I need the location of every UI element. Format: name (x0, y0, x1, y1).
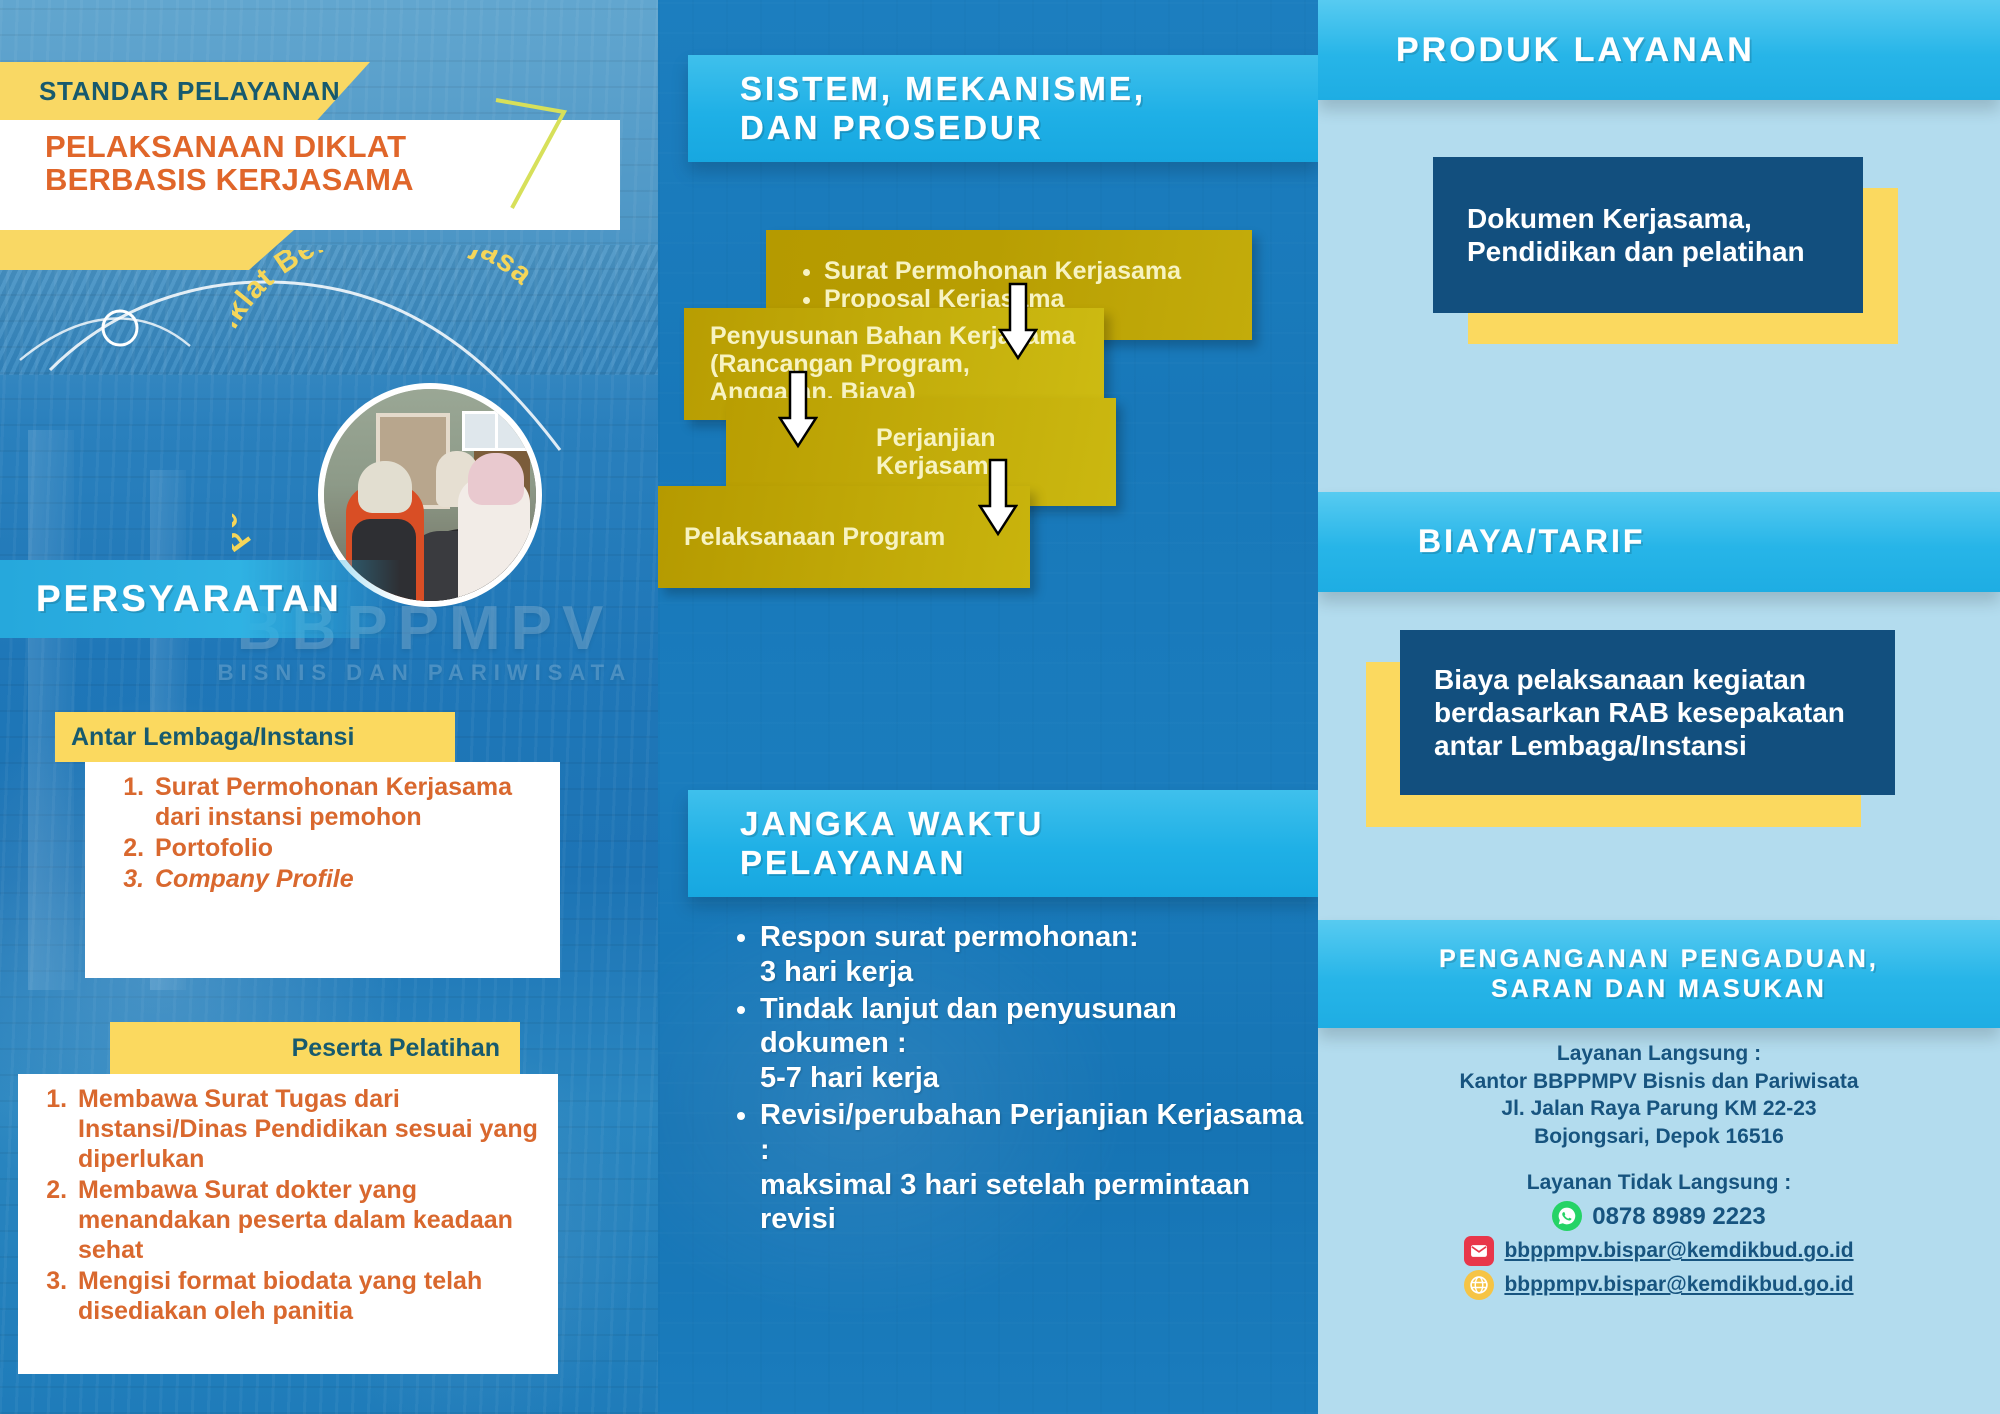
produk-layanan-heading: PRODUK LAYANAN (1318, 0, 2000, 100)
pillar-left (28, 430, 74, 990)
watermark-sub: BISNIS DAN PARIWISATA (165, 663, 658, 684)
jangka-heading-line2: PELAYANAN (740, 844, 1044, 882)
down-arrow-icon-1 (998, 282, 1038, 362)
down-arrow-icon-2 (778, 370, 818, 450)
list-item: Membawa Surat dokter yang menandakan pes… (74, 1175, 546, 1265)
group2-label: Peserta Pelatihan (292, 1034, 500, 1063)
produk-layanan-box: Dokumen Kerjasama, Pendidikan dan pelati… (1433, 157, 1863, 313)
list-item: Company Profile (151, 864, 548, 894)
middle-column: SISTEM, MEKANISME, DAN PROSEDUR Surat Pe… (658, 0, 1318, 1414)
direct-service-label: Layanan Langsung : (1318, 1040, 2000, 1068)
brochure-page: BBPPMPV BISNIS DAN PARIWISATA STANDAR PE… (0, 0, 2000, 1414)
decorative-arrow-icon (492, 96, 572, 216)
sistem-heading-line2: DAN PROSEDUR (740, 109, 1146, 147)
sistem-heading-line1: SISTEM, MEKANISME, (740, 70, 1146, 108)
right-column: PRODUK LAYANAN Dokumen Kerjasama, Pendid… (1318, 0, 2000, 1414)
jangka-heading-line1: JANGKA WAKTU (740, 805, 1044, 843)
globe-icon (1464, 1270, 1494, 1300)
email-link[interactable]: bbppmpv.bispar@kemdikbud.go.id (1504, 1237, 1853, 1265)
contact-block: Layanan Langsung : Kantor BBPPMPV Bisnis… (1318, 1040, 2000, 1300)
list-item: Membawa Surat Tugas dari Instansi/Dinas … (74, 1084, 546, 1174)
office-line-2: Jl. Jalan Raya Parung KM 22-23 (1318, 1095, 2000, 1123)
list-item: Respon surat permohonan: 3 hari kerja (760, 920, 1304, 990)
pengaduan-heading: PENGANGANAN PENGADUAN, SARAN DAN MASUKAN (1318, 920, 2000, 1028)
jangka-waktu-heading: JANGKA WAKTU PELAYANAN (688, 790, 1318, 897)
down-arrow-icon-3 (978, 458, 1018, 538)
group2-list: Membawa Surat Tugas dari Instansi/Dinas … (74, 1084, 546, 1326)
list-item: Mengisi format biodata yang telah disedi… (74, 1266, 546, 1326)
phone-number: 0878 8989 2223 (1592, 1201, 1766, 1233)
persyaratan-label: PERSYARATAN (36, 578, 342, 620)
procedure-flow-diagram: Surat Permohonan Kerjasama Proposal Kerj… (658, 230, 1318, 730)
pengaduan-line2: SARAN DAN MASUKAN (1439, 974, 1879, 1004)
group1-label: Antar Lembaga/Instansi (71, 723, 354, 752)
biaya-tarif-label: BIAYA/TARIF (1418, 524, 1645, 560)
group1-list-box: Surat Permohonan Kerjasama dari instansi… (85, 762, 560, 978)
website-link[interactable]: bbppmpv.bispar@kemdikbud.go.id (1504, 1271, 1853, 1299)
biaya-tarif-heading: BIAYA/TARIF (1318, 492, 2000, 592)
pengaduan-line1: PENGANGANAN PENGADUAN, (1439, 944, 1879, 974)
produk-layanan-label: PRODUK LAYANAN (1396, 31, 1755, 69)
indirect-service-label: Layanan Tidak Langsung : (1318, 1169, 2000, 1197)
office-line-3: Bojongsari, Depok 16516 (1318, 1123, 2000, 1151)
left-column: BBPPMPV BISNIS DAN PARIWISATA STANDAR PE… (0, 0, 658, 1414)
group1-list: Surat Permohonan Kerjasama dari instansi… (151, 772, 548, 894)
list-item: Surat Permohonan Kerjasama (824, 257, 1181, 285)
office-line-1: Kantor BBPPMPV Bisnis dan Pariwisata (1318, 1068, 2000, 1096)
mail-icon (1464, 1236, 1494, 1266)
list-item: Portofolio (151, 833, 548, 863)
persyaratan-heading: PERSYARATAN (0, 560, 400, 638)
eyebrow-label: STANDAR PELAYANAN (39, 76, 340, 107)
whatsapp-icon (1552, 1201, 1582, 1231)
group2-list-box: Membawa Surat Tugas dari Instansi/Dinas … (18, 1074, 558, 1374)
biaya-tarif-box: Biaya pelaksanaan kegiatan berdasarkan R… (1400, 630, 1895, 795)
group2-label-banner: Peserta Pelatihan (110, 1022, 520, 1074)
list-item: Tindak lanjut dan penyusunan dokumen :5-… (760, 992, 1304, 1096)
jangka-waktu-list: Respon surat permohonan: 3 hari kerja Ti… (724, 920, 1304, 1239)
sistem-heading: SISTEM, MEKANISME, DAN PROSEDUR (688, 55, 1318, 162)
eyebrow-banner: STANDAR PELAYANAN (0, 62, 370, 120)
list-item: Surat Permohonan Kerjasama dari instansi… (151, 772, 548, 832)
list-item: Revisi/perubahan Perjanjian Kerjasama :m… (760, 1098, 1304, 1237)
group1-label-banner: Antar Lembaga/Instansi (55, 712, 455, 762)
phone-row[interactable]: 0878 8989 2223 (1318, 1201, 2000, 1233)
website-row[interactable]: bbppmpv.bispar@kemdikbud.go.id (1318, 1270, 2000, 1300)
title-underbar (0, 230, 294, 270)
email-row[interactable]: bbppmpv.bispar@kemdikbud.go.id (1318, 1236, 2000, 1266)
flow-step-4: Pelaksanaan Program (658, 486, 1030, 588)
